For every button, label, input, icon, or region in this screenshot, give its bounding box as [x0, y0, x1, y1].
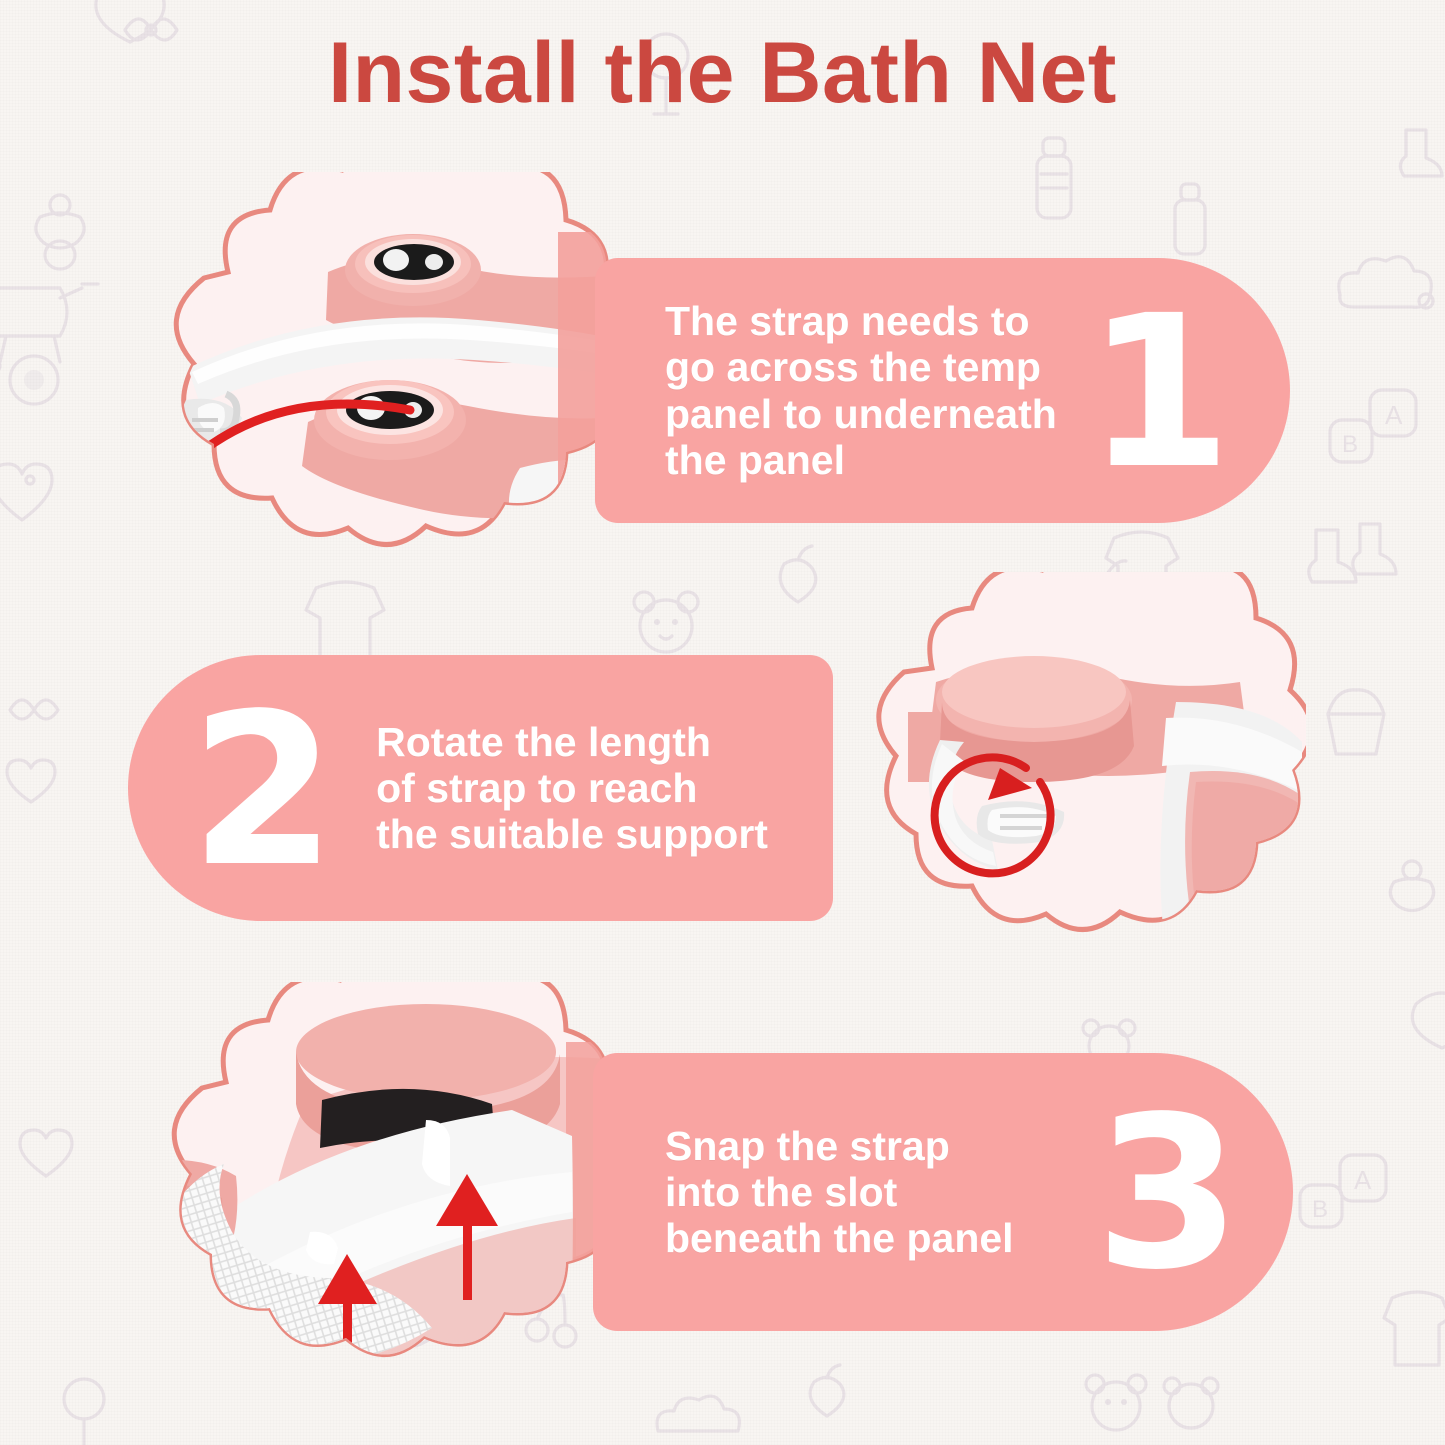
- step-2-number: 2: [190, 705, 336, 877]
- step-3-product-photo: [126, 1004, 622, 1434]
- step-3-instruction-text: Snap the strap into the slot beneath the…: [665, 1123, 1095, 1262]
- cloud-frame-shape: [126, 982, 622, 1434]
- cloud-frame-shape: [128, 172, 620, 612]
- step-2-text-pill: 2 Rotate the length of strap to reach th…: [128, 655, 833, 921]
- page-title: Install the Bath Net: [0, 24, 1445, 123]
- step-1-number: 1: [1086, 307, 1232, 479]
- step-2-image-frame: [836, 572, 1306, 1017]
- cloud-frame-shape: [836, 572, 1306, 1017]
- step-1-text-pill: The strap needs to go across the temp pa…: [595, 258, 1290, 523]
- step-3-text-pill: Snap the strap into the slot beneath the…: [593, 1053, 1293, 1331]
- step-2-instruction-text: Rotate the length of strap to reach the …: [376, 719, 768, 858]
- step-1-image-frame: [128, 172, 620, 612]
- step-3-number: 3: [1095, 1108, 1241, 1280]
- step-3-image-frame: [126, 982, 622, 1434]
- step-1-instruction-text: The strap needs to go across the temp pa…: [665, 298, 1086, 483]
